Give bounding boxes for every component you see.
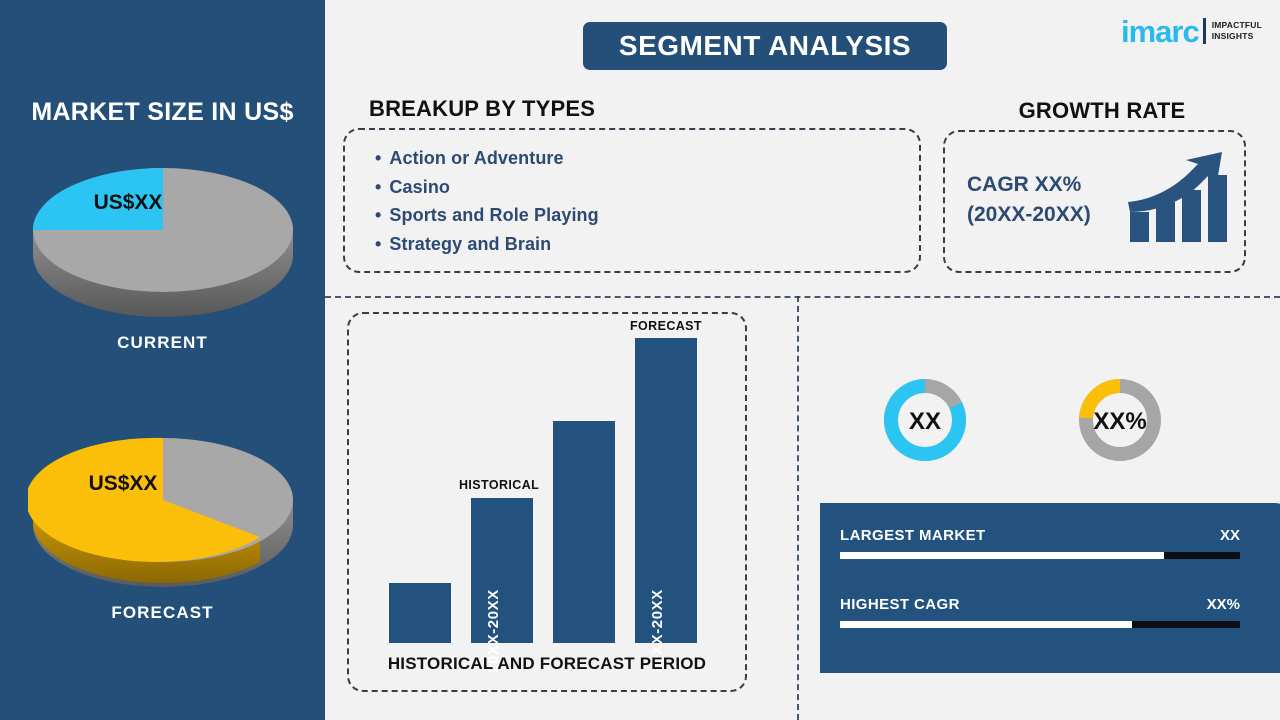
list-item: Action or Adventure (375, 144, 919, 173)
imarc-logo: imarc IMPACTFUL INSIGHTS (1121, 14, 1262, 48)
bar-1: 20XX-20XX (471, 498, 533, 643)
list-item: Strategy and Brain (375, 230, 919, 259)
vertical-divider (797, 296, 799, 720)
market-share-donut: XX (855, 350, 995, 490)
stat-progress-fill (840, 552, 1164, 559)
sidebar-title: MARKET SIZE IN US$ (0, 98, 325, 127)
list-item: Casino (375, 173, 919, 202)
stat-value: XX (1220, 527, 1240, 544)
stat-progress-track (840, 552, 1240, 559)
breakup-by-types-title: BREAKUP BY TYPES (369, 96, 595, 122)
stat-value: XX% (1207, 596, 1240, 613)
logo-tagline-line-2: INSIGHTS (1212, 31, 1254, 41)
breakup-by-types-box: Action or Adventure Casino Sports and Ro… (343, 128, 921, 273)
stat-progress-fill (840, 621, 1132, 628)
pie-current-label: US$XX (93, 191, 162, 214)
list-item: Sports and Role Playing (375, 201, 919, 230)
pie-current-caption: CURRENT (0, 333, 325, 353)
pie-chart-current-svg: US$XX (28, 155, 298, 325)
growth-rate-text: CAGR XX% (20XX-20XX) (967, 170, 1091, 230)
growth-rate-box: CAGR XX% (20XX-20XX) (943, 130, 1246, 273)
donut-charts: XX XX% (835, 350, 1255, 490)
infographic-page: MARKET SIZE IN US$ US$XX CURRENT (0, 0, 1280, 720)
pie-forecast-label: US$XX (88, 472, 157, 495)
growth-rate-title: GROWTH RATE (942, 98, 1262, 124)
historical-annotation: HISTORICAL (459, 478, 539, 492)
pie-chart-forecast-svg: US$XX (28, 425, 298, 595)
cagr-period: (20XX-20XX) (967, 200, 1091, 230)
stat-row: HIGHEST CAGR XX% (840, 596, 1240, 628)
types-list: Action or Adventure Casino Sports and Ro… (345, 130, 919, 258)
stat-progress-track (840, 621, 1240, 628)
current-market-size-pie: US$XX CURRENT (0, 155, 325, 353)
cagr-value: CAGR XX% (967, 170, 1091, 200)
historical-forecast-bar-chart: 20XX-20XX HISTORICAL 20XX-20XX FORECAST … (347, 312, 747, 692)
logo-wordmark: imarc (1121, 16, 1199, 47)
banner-title: SEGMENT ANALYSIS (619, 30, 911, 62)
growth-arrow-bars-icon (1126, 150, 1228, 249)
forecast-market-size-pie: US$XX FORECAST (0, 425, 325, 623)
donut-left-label: XX (909, 408, 941, 435)
stat-label: LARGEST MARKET (840, 527, 986, 544)
forecast-annotation: FORECAST (630, 319, 702, 333)
stat-row: LARGEST MARKET XX (840, 527, 1240, 559)
pie-forecast-caption: FORECAST (0, 603, 325, 623)
sidebar: MARKET SIZE IN US$ US$XX CURRENT (0, 0, 325, 720)
growth-percent-donut: XX% (1050, 350, 1190, 490)
main-content: SEGMENT ANALYSIS imarc IMPACTFUL INSIGHT… (325, 0, 1280, 720)
bar-0 (389, 583, 451, 643)
bar-chart-xlabel: HISTORICAL AND FORECAST PERIOD (347, 654, 747, 674)
logo-tagline-line-1: IMPACTFUL (1212, 20, 1262, 30)
bar-3: 20XX-20XX (635, 338, 697, 643)
key-stats-panel: LARGEST MARKET XX HIGHEST CAGR XX% (820, 503, 1280, 673)
bar-2 (553, 421, 615, 643)
logo-tagline: IMPACTFUL INSIGHTS (1212, 20, 1262, 41)
donut-right-label: XX% (1093, 408, 1146, 435)
segment-analysis-banner: SEGMENT ANALYSIS (583, 22, 947, 70)
stat-label: HIGHEST CAGR (840, 596, 960, 613)
horizontal-divider (325, 296, 1280, 298)
logo-divider (1203, 18, 1206, 44)
